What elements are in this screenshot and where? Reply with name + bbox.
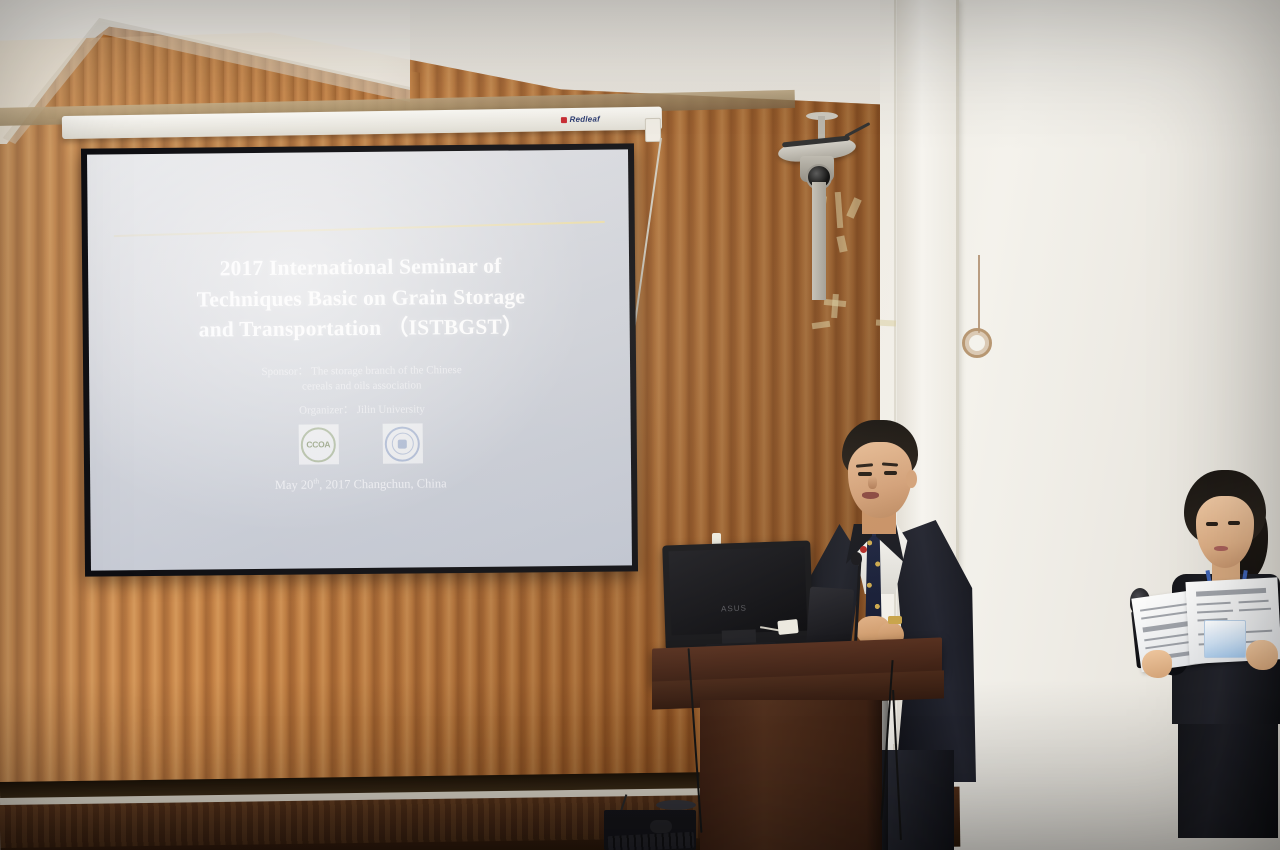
logo-box-ccoa: CCOA (298, 424, 338, 464)
computer-mouse[interactable] (650, 820, 672, 833)
speaker-face (848, 442, 912, 518)
screen-housing-end-cap (645, 118, 661, 142)
hanging-wire (978, 255, 980, 333)
camera-wall-post (812, 182, 826, 300)
assistant-conference-badge (1204, 620, 1246, 658)
projection-screen-frame: 2017 International Seminar of Techniques… (81, 143, 638, 576)
screen-brand-text: Redleaf (570, 115, 600, 124)
slide-date-location: May 20th, 2017 Changchun, China (90, 473, 631, 494)
coiled-wire-end (962, 328, 992, 358)
seal-center-mark (398, 439, 407, 448)
speaker-eye-right (884, 471, 897, 475)
screen-brand-label: Redleaf (561, 115, 600, 125)
assistant-hand-left (1142, 650, 1172, 678)
slide-title-line-3: and Transportation （ISTBGST） (119, 311, 604, 346)
speaker-ear (906, 470, 917, 488)
assistant-eye-left (1206, 522, 1218, 526)
slide-title-line-1: 2017 International Seminar of (118, 250, 603, 285)
speaker-lapel-pin (860, 546, 867, 553)
slide-sponsor-block: Sponsor： The storage branch of the Chine… (129, 362, 594, 397)
logo-box-jilin-university (382, 423, 422, 463)
presentation-slide: 2017 International Seminar of Techniques… (87, 149, 632, 570)
assistant-person (1128, 470, 1280, 850)
tape-mark (876, 319, 896, 326)
gooseneck-microphone-head[interactable] (851, 552, 862, 565)
speaker-nose (868, 476, 877, 489)
assistant-hand-right (1246, 640, 1278, 670)
speaker-mouth (862, 492, 879, 499)
slide-logo-row: CCOA (90, 421, 631, 466)
podium-column (700, 700, 882, 850)
speaker-wristwatch (888, 616, 902, 624)
assistant-mouth (1214, 546, 1228, 551)
power-plug (777, 619, 798, 635)
slide-gold-divider (114, 221, 605, 237)
slide-organizer-line: Organizer： Jilin University (129, 399, 594, 419)
chinese-cereals-and-oils-association-logo: CCOA (301, 427, 336, 462)
projection-screen-surface: 2017 International Seminar of Techniques… (87, 149, 632, 570)
jilin-university-seal-logo (385, 426, 420, 461)
slide-title-line-2: Techniques Basic on Grain Storage (118, 280, 603, 315)
slide-title: 2017 International Seminar of Techniques… (118, 250, 604, 346)
av-disc-device (656, 800, 696, 810)
slide-date-prefix: May 20 (275, 478, 314, 492)
assistant-eye-right (1228, 521, 1240, 525)
slide-date-suffix: , 2017 Changchun, China (319, 476, 447, 491)
slide-sponsor-line-2: cereals and oils association (129, 377, 594, 397)
monitor-brand-label: ASUS (712, 603, 756, 616)
brand-logo-icon (561, 117, 567, 123)
photograph-scene: Redleaf 2017 International Seminar of Te… (0, 0, 1280, 850)
